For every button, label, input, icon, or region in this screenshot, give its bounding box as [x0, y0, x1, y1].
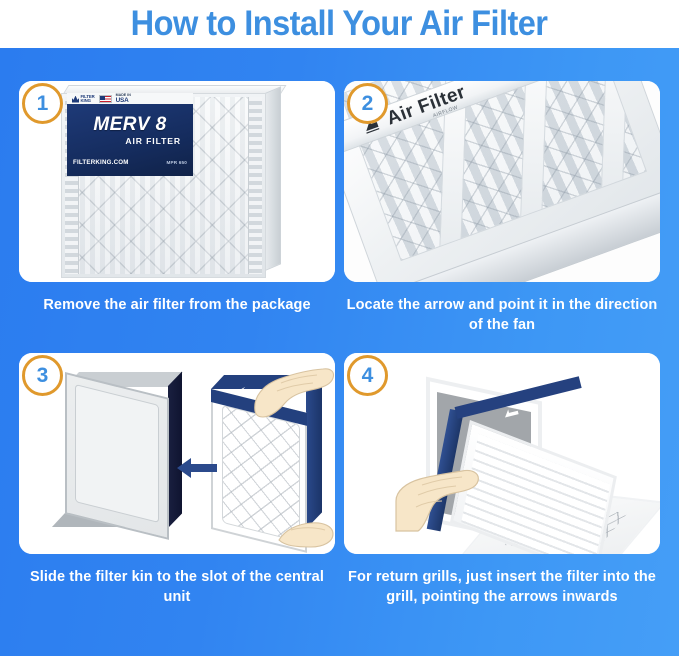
infographic-root: How to Install Your Air Filter [0, 0, 679, 656]
page-title: How to Install Your Air Filter [131, 4, 548, 44]
step-3-caption: Slide the filter kin to the slot of the … [19, 567, 335, 607]
us-flag-icon [99, 95, 112, 103]
direction-arrow-icon [177, 456, 217, 480]
unit-recess-panel [75, 384, 159, 523]
step-1-image-card: FILTER KING MADE IN USA MERV 8 [19, 81, 335, 282]
hand-illustration-top [247, 363, 335, 419]
filter-king-logo: FILTER KING [72, 95, 95, 104]
step-number-badge-2: 2 [347, 83, 388, 124]
title-band: How to Install Your Air Filter [0, 0, 679, 48]
step-number-1: 1 [37, 93, 49, 114]
step-number-badge-3: 3 [22, 355, 63, 396]
brand-line-2: KING [81, 99, 95, 104]
filter-side-face [265, 86, 281, 271]
unit-slot-opening [168, 372, 182, 528]
step-number-3: 3 [37, 365, 49, 386]
crown-icon [72, 96, 79, 103]
filter-right-ledge [248, 97, 262, 274]
product-type-text: AIR FILTER [67, 136, 193, 146]
step-4-caption: For return grills, just insert the filte… [344, 567, 660, 607]
step-2-caption: Locate the arrow and point it in the dir… [344, 295, 660, 335]
hand-illustration [394, 457, 484, 535]
step-card-2: Air Filter AIRFLOW 2 Locate the arrow an… [344, 81, 660, 335]
step-number-4: 4 [362, 365, 374, 386]
step-3-image-card: 3 [19, 353, 335, 554]
made-in-usa-text: MADE IN USA [116, 94, 131, 105]
mpr-text: MPR 650 [166, 160, 187, 165]
step-number-badge-1: 1 [22, 83, 63, 124]
hand-illustration-bottom [277, 516, 335, 550]
blue-background-panel: FILTER KING MADE IN USA MERV 8 [0, 48, 679, 656]
step-number-badge-4: 4 [347, 355, 388, 396]
steps-grid: FILTER KING MADE IN USA MERV 8 [0, 48, 679, 656]
merv-rating-text: MERV 8 [67, 114, 193, 136]
step-4-image-card: 4 [344, 353, 660, 554]
filter-king-logo-text: FILTER KING [81, 95, 95, 104]
made-in-label: MADE IN [116, 93, 131, 97]
step-2-image-card: Air Filter AIRFLOW 2 [344, 81, 660, 282]
insert-filter-into-return-grill-illustration [344, 353, 660, 554]
step-card-3: 3 Slide the filter kin to the slot of th… [19, 353, 335, 607]
step-number-2: 2 [362, 93, 374, 114]
boxed-merv8-air-filter-photo: FILTER KING MADE IN USA MERV 8 [19, 81, 335, 282]
step-card-1: FILTER KING MADE IN USA MERV 8 [19, 81, 335, 315]
air-filter-corner-arrow-photo: Air Filter AIRFLOW [344, 81, 660, 282]
step-1-caption: Remove the air filter from the package [19, 295, 335, 315]
slide-filter-into-central-unit-illustration [19, 353, 335, 554]
step-card-4: 4 For return grills, just insert the fil… [344, 353, 660, 607]
website-text: FILTERKING.COM [73, 159, 129, 166]
filter-label-footer: FILTERKING.COM MPR 650 [67, 159, 193, 166]
filter-corner-group: Air Filter AIRFLOW [344, 81, 660, 282]
